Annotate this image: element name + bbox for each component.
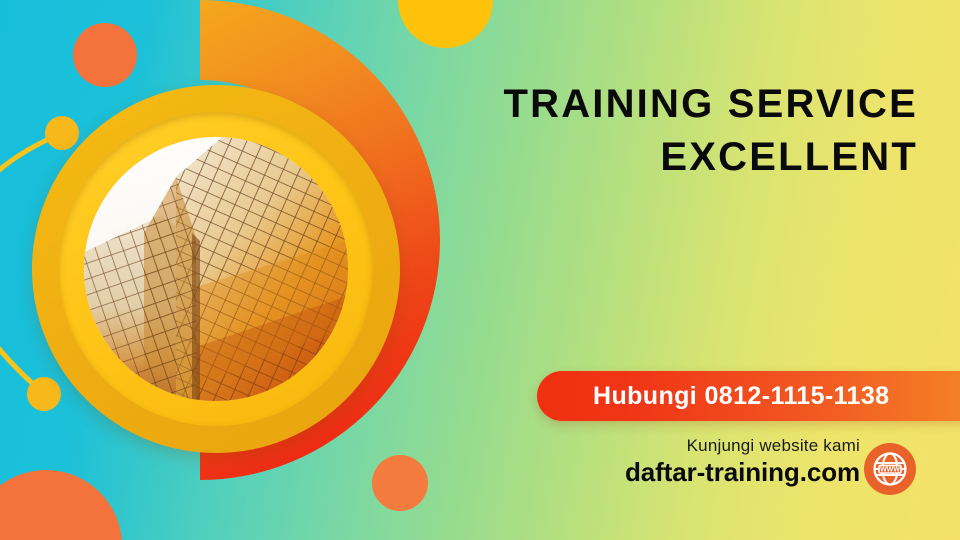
contact-phone-button[interactable]: Hubungi 0812-1115-1138 xyxy=(537,371,960,421)
website-domain-text[interactable]: daftar-training.com xyxy=(560,458,860,488)
website-block: Kunjungi website kami daftar-training.co… xyxy=(560,437,860,488)
building-photo xyxy=(84,137,348,401)
page-title: TRAINING SERVICE EXCELLENT xyxy=(358,78,918,184)
globe-www-icon: WWW xyxy=(864,443,916,495)
contact-phone-label: Hubungi 0812-1115-1138 xyxy=(593,382,889,411)
website-kicker-text: Kunjungi website kami xyxy=(560,437,860,456)
photo-medallion xyxy=(32,85,400,453)
globe-www-label: WWW xyxy=(880,466,900,473)
promo-banner: TRAINING SERVICE EXCELLENT Hubungi 0812-… xyxy=(0,0,960,540)
